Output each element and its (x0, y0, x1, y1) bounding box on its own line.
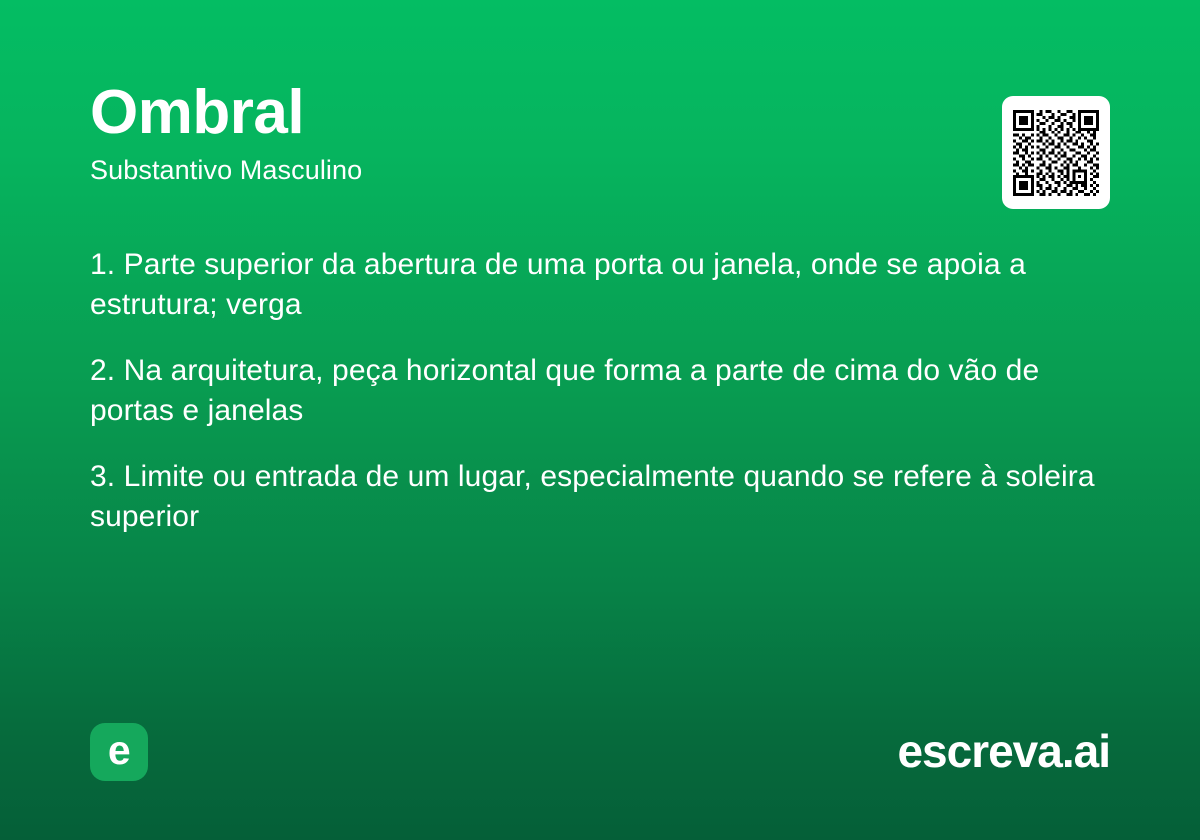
definition-item: 1. Parte superior da abertura de uma por… (90, 245, 1110, 325)
qr-code[interactable] (1002, 96, 1110, 209)
brand-logo: e (90, 723, 148, 781)
dictionary-card: Ombral Substantivo Masculino (0, 0, 1200, 840)
definition-item: 2. Na arquitetura, peça horizontal que f… (90, 351, 1110, 431)
brand-wordmark: escreva.ai (897, 722, 1110, 780)
qr-code-icon (1013, 110, 1099, 196)
word-class-label: Substantivo Masculino (90, 156, 970, 186)
definition-item: 3. Limite ou entrada de um lugar, especi… (90, 457, 1110, 537)
card-header: Ombral Substantivo Masculino (90, 82, 970, 186)
page-title: Ombral (90, 82, 970, 144)
definition-list: 1. Parte superior da abertura de uma por… (90, 245, 1110, 537)
brand-logo-letter: e (108, 730, 130, 771)
